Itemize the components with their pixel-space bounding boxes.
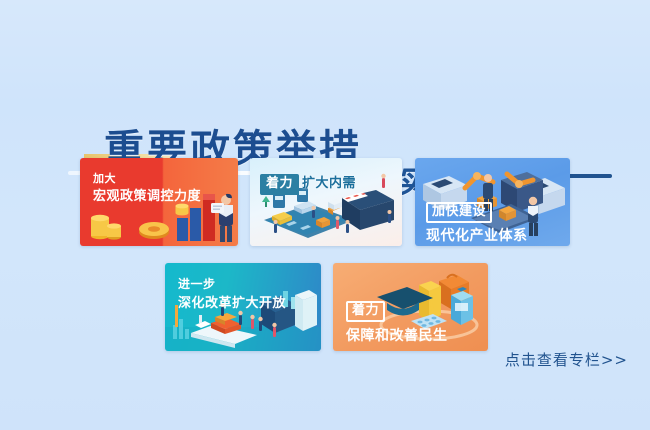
policy-card-reform-opening-up[interactable]: 进一步 深化改革扩大开放	[165, 263, 321, 351]
card1-subheading: 宏观政策调控力度	[93, 189, 201, 205]
card4-subheading: 深化改革扩大开放	[178, 296, 286, 312]
policy-card-peoples-livelihood[interactable]: 着力 保障和改善民生	[333, 263, 488, 351]
policy-card-modern-industrial-system[interactable]: 加快建设 现代化产业体系	[415, 158, 570, 246]
policy-card-macro-regulation[interactable]: 加大 宏观政策调控力度	[80, 158, 238, 246]
card5-subheading: 保障和改善民生	[346, 328, 448, 346]
card1-heading: 加大	[93, 172, 201, 186]
card3-subheading: 现代化产业体系	[426, 228, 528, 246]
policy-banner: 重要政策举措 及实施效果	[0, 0, 650, 430]
banner-title-block: 重要政策举措 及实施效果	[0, 55, 650, 150]
card5-heading: 着力	[346, 301, 385, 322]
policy-card-expand-domestic-demand[interactable]: 着力 扩大内需	[250, 158, 402, 246]
city-commerce-illustration	[250, 158, 402, 246]
card3-heading: 加快建设	[426, 202, 492, 223]
card2-subheading: 扩大内需	[302, 176, 356, 192]
card2-heading: 着力	[260, 174, 299, 195]
card4-heading: 进一步	[178, 277, 286, 292]
view-column-link[interactable]: 点击查看专栏>>	[505, 349, 628, 370]
